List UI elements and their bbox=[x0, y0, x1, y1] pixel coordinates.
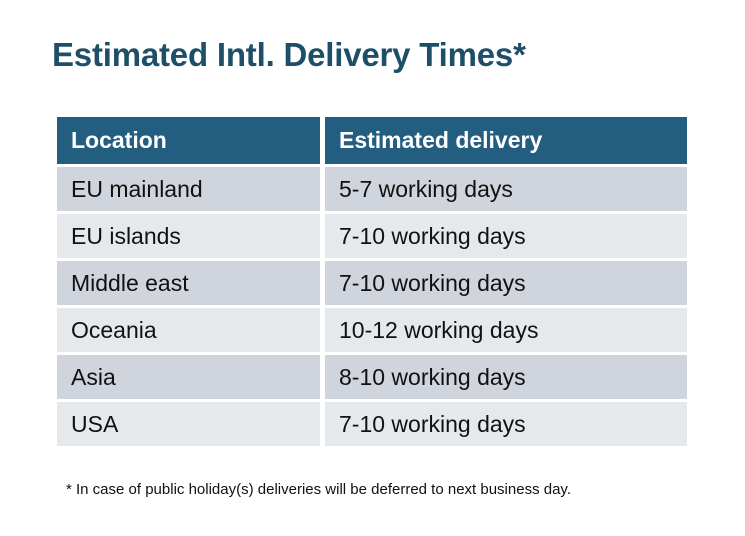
cell-delivery: 7-10 working days bbox=[325, 402, 687, 446]
footnote: * In case of public holiday(s) deliverie… bbox=[66, 481, 571, 498]
page-title: Estimated Intl. Delivery Times* bbox=[52, 36, 526, 74]
delivery-times-page: Estimated Intl. Delivery Times* Location… bbox=[0, 0, 745, 536]
cell-location: EU mainland bbox=[57, 167, 320, 211]
cell-location: USA bbox=[57, 402, 320, 446]
cell-delivery: 5-7 working days bbox=[325, 167, 687, 211]
cell-delivery: 7-10 working days bbox=[325, 261, 687, 305]
table-row: Oceania 10-12 working days bbox=[57, 308, 687, 352]
table-row: EU islands 7-10 working days bbox=[57, 214, 687, 258]
cell-location: Middle east bbox=[57, 261, 320, 305]
cell-location: Asia bbox=[57, 355, 320, 399]
table-body: EU mainland 5-7 working days EU islands … bbox=[57, 167, 687, 446]
cell-location: Oceania bbox=[57, 308, 320, 352]
delivery-times-table: Location Estimated delivery EU mainland … bbox=[52, 114, 692, 449]
table-header-row: Location Estimated delivery bbox=[57, 117, 687, 164]
table-row: Asia 8-10 working days bbox=[57, 355, 687, 399]
cell-delivery: 7-10 working days bbox=[325, 214, 687, 258]
cell-location: EU islands bbox=[57, 214, 320, 258]
table-row: EU mainland 5-7 working days bbox=[57, 167, 687, 211]
column-header-estimated-delivery: Estimated delivery bbox=[325, 117, 687, 164]
cell-delivery: 10-12 working days bbox=[325, 308, 687, 352]
table-row: Middle east 7-10 working days bbox=[57, 261, 687, 305]
table-row: USA 7-10 working days bbox=[57, 402, 687, 446]
column-header-location: Location bbox=[57, 117, 320, 164]
table-header: Location Estimated delivery bbox=[57, 117, 687, 164]
cell-delivery: 8-10 working days bbox=[325, 355, 687, 399]
